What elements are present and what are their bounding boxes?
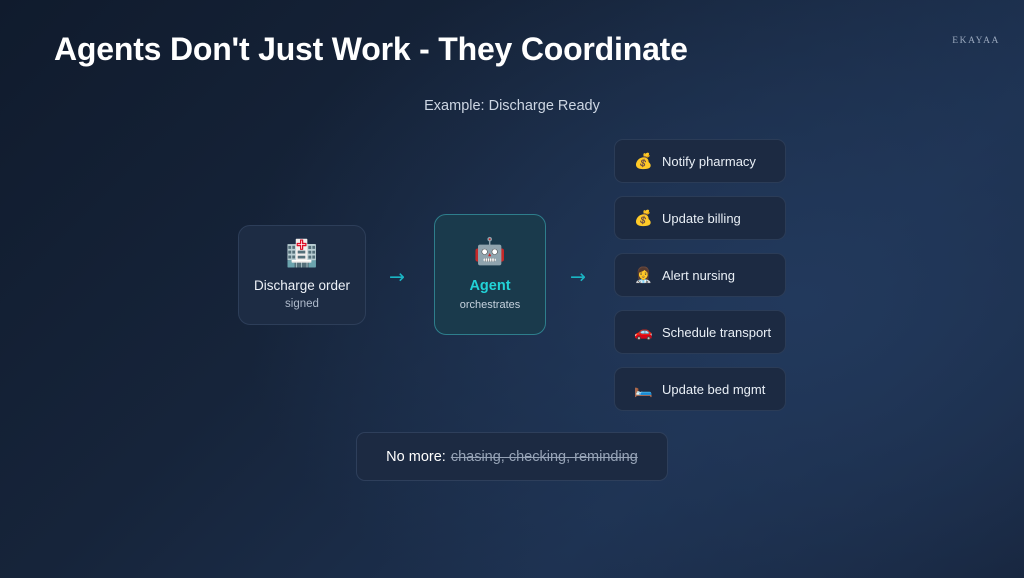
agent-node-subtitle: orchestrates [460, 299, 521, 311]
trigger-node-subtitle: signed [285, 298, 319, 310]
action-item[interactable]: 🚗 Schedule transport [614, 310, 786, 354]
arrow-right-icon: → [570, 268, 586, 287]
agent-node: 🤖 Agent orchestrates [434, 214, 546, 335]
action-item-label: Notify pharmacy [662, 154, 756, 169]
action-item[interactable]: 🛏️ Update bed mgmt [614, 367, 786, 411]
no-more-struck-text: chasing, checking, reminding [451, 449, 638, 465]
slide-canvas: Agents Don't Just Work - They Coordinate… [0, 0, 1024, 578]
brand-logo: EKAYAA [952, 36, 1000, 46]
action-item[interactable]: 💰 Notify pharmacy [614, 139, 786, 183]
action-item-label: Alert nursing [662, 268, 735, 283]
health-worker-icon: 👩‍⚕️ [634, 268, 662, 283]
hospital-icon: 🏥 [286, 240, 318, 266]
action-list: 💰 Notify pharmacy 💰 Update billing 👩‍⚕️ … [614, 139, 786, 411]
action-item[interactable]: 💰 Update billing [614, 196, 786, 240]
arrow-right-icon: → [389, 268, 405, 287]
page-title: Agents Don't Just Work - They Coordinate [54, 31, 688, 68]
no-more-banner: No more: chasing, checking, reminding [356, 432, 668, 481]
slide-subtitle: Example: Discharge Ready [0, 98, 1024, 114]
action-item-label: Update bed mgmt [662, 382, 765, 397]
agent-node-title: Agent [469, 278, 510, 294]
trigger-node-title: Discharge order [254, 278, 350, 293]
money-bag-icon: 💰 [634, 211, 662, 226]
bed-icon: 🛏️ [634, 382, 662, 397]
robot-icon: 🤖 [474, 238, 506, 264]
no-more-lead-text: No more: [386, 449, 446, 465]
car-icon: 🚗 [634, 325, 662, 340]
action-item-label: Update billing [662, 211, 741, 226]
action-item-label: Schedule transport [662, 325, 771, 340]
action-item[interactable]: 👩‍⚕️ Alert nursing [614, 253, 786, 297]
money-bag-icon: 💰 [634, 154, 662, 169]
trigger-node: 🏥 Discharge order signed [238, 225, 366, 325]
